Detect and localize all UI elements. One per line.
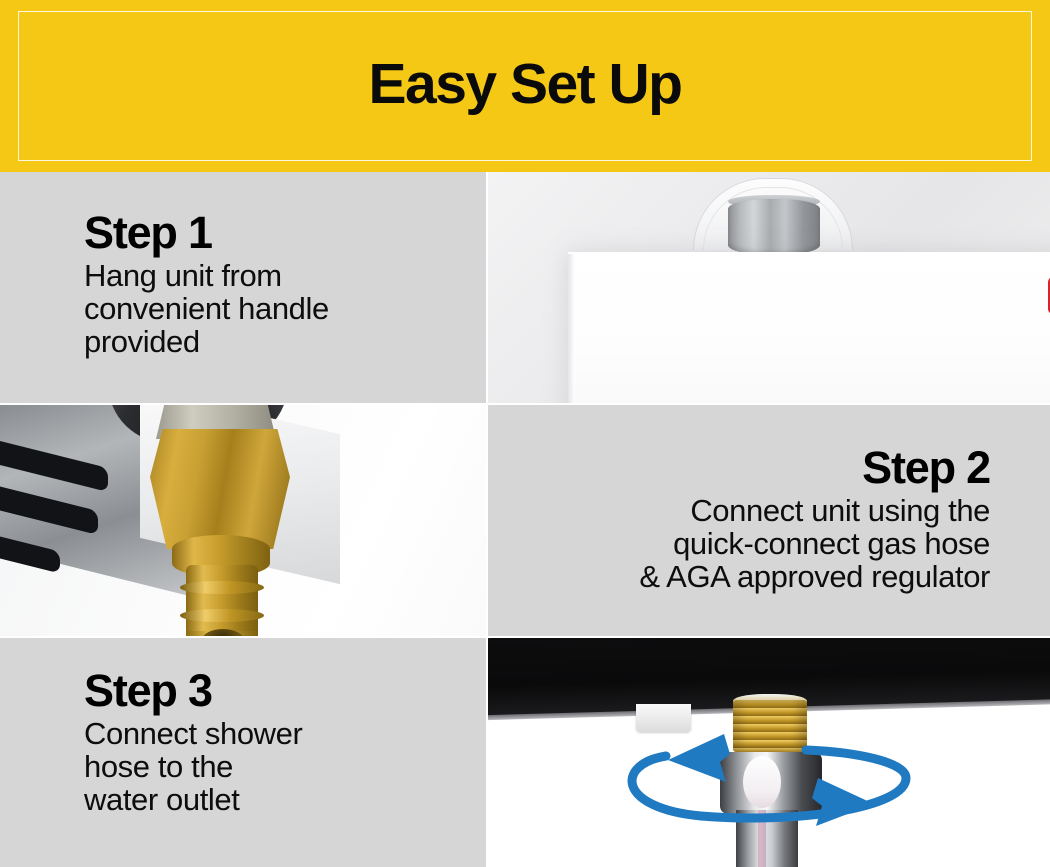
step-2-heading: Step 2 — [488, 445, 990, 491]
rotation-arrow-icon — [606, 716, 936, 836]
heater-flue-icon — [728, 199, 820, 255]
step-3-image-panel — [488, 638, 1050, 867]
step-1-image-panel: thermo® mate — [488, 172, 1050, 403]
step-1-body: Hang unit from convenient handle provide… — [84, 260, 486, 359]
row-divider-2 — [0, 636, 1050, 638]
step-3-body: Connect shower hose to the water outlet — [84, 718, 486, 817]
step-3-text-block: Step 3 Connect shower hose to the water … — [0, 668, 486, 816]
step-1-text-block: Step 1 Hang unit from convenient handle … — [0, 210, 486, 358]
brass-hex-body — [150, 429, 290, 549]
step-2-body: Connect unit using the quick-connect gas… — [488, 495, 990, 594]
easy-set-up-infographic: Easy Set Up Step 1 Hang unit from conven… — [0, 0, 1050, 867]
heater-body-shape — [568, 252, 1050, 403]
step-2-text-panel: Step 2 Connect unit using the quick-conn… — [488, 405, 1050, 636]
brass-groove-2 — [180, 609, 264, 622]
header-banner: Easy Set Up — [0, 0, 1050, 172]
page-title: Easy Set Up — [369, 56, 682, 113]
step-2-text-block: Step 2 Connect unit using the quick-conn… — [488, 445, 1050, 593]
brass-stem — [186, 565, 258, 636]
brass-groove-1 — [180, 581, 264, 594]
step-3-heading: Step 3 — [84, 668, 486, 714]
step-3-text-panel: Step 3 Connect shower hose to the water … — [0, 638, 486, 867]
steps-grid: Step 1 Hang unit from convenient handle … — [0, 172, 1050, 867]
step-2-image-panel — [0, 405, 486, 636]
step-1-heading: Step 1 — [84, 210, 486, 256]
row-divider-1 — [0, 403, 1050, 405]
step-1-text-panel: Step 1 Hang unit from convenient handle … — [0, 172, 486, 403]
column-divider — [486, 172, 488, 867]
